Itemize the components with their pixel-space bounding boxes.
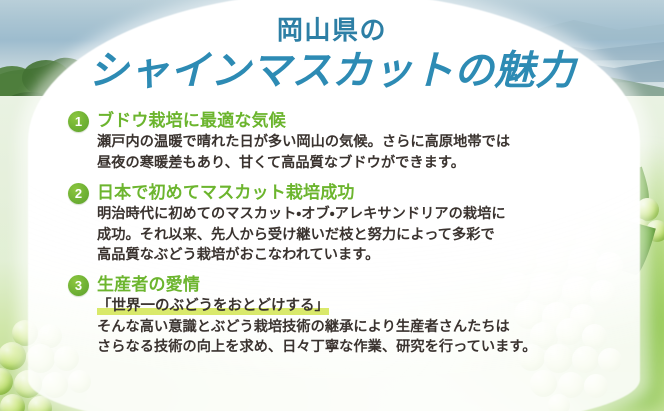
feature-list: 1 ブドウ栽培に最適な気候 瀬戸内の温暖で晴れた日が多い岡山の気候。さらに高原地… xyxy=(68,110,588,358)
feature-body: そんな高い意識とぶどう栽培技術の継承により生産者さんたちは さらなる技術の向上を… xyxy=(97,317,588,358)
feature-body: 瀬戸内の温暖で晴れた日が多い岡山の気候。さらに高原地帯では 昼夜の寒暖差もあり、… xyxy=(97,132,588,173)
feature-quote: 「世界一のぶどうをおとどけする」 xyxy=(97,297,329,316)
page-subtitle: 岡山県の xyxy=(0,16,664,45)
feature-heading: ブドウ栽培に最適な気候 xyxy=(97,110,588,131)
feature-body-line: さらなる技術の向上を求め、日々丁寧な作業、研究を行っています。 xyxy=(97,337,588,357)
number-badge-icon: 1 xyxy=(68,111,89,132)
feature-heading: 日本で初めてマスカット栽培成功 xyxy=(97,182,588,203)
feature-body: 明治時代に初めてのマスカット・オブ・アレキサンドリアの栽培に 成功。それ以来、先… xyxy=(97,204,588,265)
feature-item: 3 生産者の愛情 「世界一のぶどうをおとどけする」 そんな高い意識とぶどう栽培技… xyxy=(68,274,588,357)
number-badge-icon: 3 xyxy=(68,275,89,296)
feature-body-line: そんな高い意識とぶどう栽培技術の継承により生産者さんたちは xyxy=(97,317,588,337)
feature-body-line: 高品質なぶどう栽培がおこなわれています。 xyxy=(97,245,588,265)
feature-heading: 生産者の愛情 xyxy=(97,274,588,295)
feature-item: 1 ブドウ栽培に最適な気候 瀬戸内の温暖で晴れた日が多い岡山の気候。さらに高原地… xyxy=(68,110,588,173)
feature-body-line: 瀬戸内の温暖で晴れた日が多い岡山の気候。さらに高原地帯では xyxy=(97,132,588,152)
page-title: シャインマスカットの魅力 xyxy=(0,49,664,94)
poster-header: 岡山県の シャインマスカットの魅力 xyxy=(0,16,664,94)
feature-body-line: 成功。それ以来、先人から受け継いだ枝と努力によって多彩で xyxy=(97,225,588,245)
number-badge-icon: 2 xyxy=(68,183,89,204)
poster-root: 岡山県の シャインマスカットの魅力 1 ブドウ栽培に最適な気候 瀬戸内の温暖で晴… xyxy=(0,0,664,411)
feature-body-line: 明治時代に初めてのマスカット・オブ・アレキサンドリアの栽培に xyxy=(97,204,588,224)
feature-item: 2 日本で初めてマスカット栽培成功 明治時代に初めてのマスカット・オブ・アレキサ… xyxy=(68,182,588,265)
feature-body-line: 昼夜の寒暖差もあり、甘くて高品質なブドウができます。 xyxy=(97,153,588,173)
